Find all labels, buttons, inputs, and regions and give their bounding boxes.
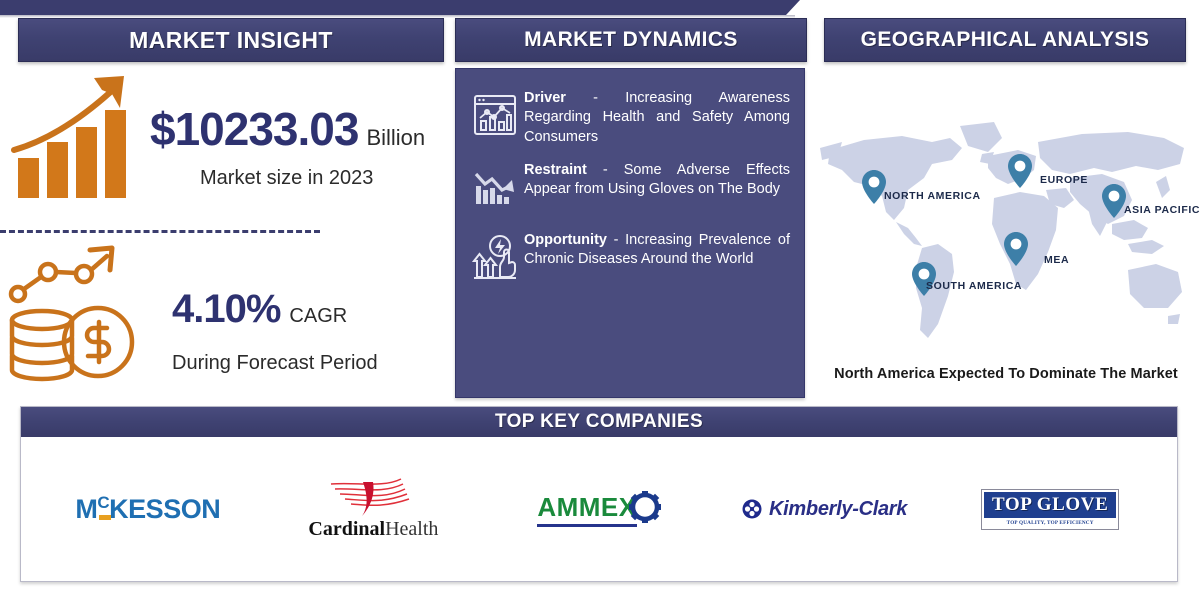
top-glove-wordmark: TOP GLOVE [992, 494, 1108, 515]
mckesson-sup: C [97, 493, 109, 512]
mckesson-prefix: M [75, 494, 97, 524]
ammex-wordmark: AMMEX [537, 492, 636, 527]
map-label-europe: EUROPE [1040, 174, 1088, 186]
kimberly-clark-lockup: Kimberly-Clark [742, 498, 907, 521]
dynamics-opportunity-sep: - [607, 232, 625, 248]
top-ribbon [0, 0, 800, 15]
company-logo-ammex[interactable]: AMMEX [486, 437, 712, 581]
dynamics-driver-title: Driver [524, 90, 566, 106]
mckesson-orange-underline [99, 515, 111, 520]
mckesson-rest: KESSON [109, 494, 220, 524]
market-insight-header: MARKET INSIGHT [18, 18, 444, 62]
geographical-caption: North America Expected To Dominate The M… [812, 366, 1200, 382]
ammex-gear-icon [627, 490, 661, 528]
top-glove-lockup: TOP GLOVE TOP QUALITY, TOP EFFICIENCY [981, 489, 1119, 530]
ammex-lockup: AMMEX [537, 490, 660, 528]
map-pin-europe[interactable] [1008, 154, 1032, 188]
cagr-caption: During Forecast Period [172, 352, 378, 375]
top-key-companies-header-label: TOP KEY COMPANIES [495, 411, 703, 433]
market-insight-panel: $10233.03 Billion Market size in 2023 4.… [0, 62, 450, 402]
dynamics-restraint-sep: - [587, 162, 624, 178]
cagr-coins-growth-icon [6, 242, 156, 382]
cardinal-health-lockup: CardinalHealth [308, 478, 438, 541]
top-key-companies-panel: TOP KEY COMPANIES MCKESSON [20, 406, 1178, 582]
market-size-value-row: $10233.03 Billion [150, 102, 425, 156]
geographical-analysis-header-label: GEOGRAPHICAL ANALYSIS [861, 28, 1150, 52]
cagr-value: 4.10% [172, 287, 280, 332]
dynamics-driver-sep: - [566, 90, 625, 106]
company-logos-row: MCKESSON CardinalHealth [21, 437, 1177, 581]
market-dynamics-header-label: MARKET DYNAMICS [524, 28, 738, 52]
map-pin-asia-pacific[interactable] [1102, 184, 1126, 218]
market-size-value: $10233.03 [150, 102, 358, 156]
company-logo-cardinal-health[interactable]: CardinalHealth [261, 437, 487, 581]
kimberly-clark-wordmark: Kimberly-Clark [769, 498, 907, 521]
market-size-unit: Billion [366, 125, 425, 151]
declining-bar-chart-icon [466, 157, 524, 217]
dynamics-driver-text: Driver - Increasing Awareness Regarding … [524, 85, 790, 147]
dynamics-restraint-title: Restraint [524, 162, 587, 178]
cardinal-health-wordmark: CardinalHealth [308, 518, 438, 541]
dynamics-item-driver: Driver - Increasing Awareness Regarding … [456, 79, 804, 151]
company-logo-kimberly-clark[interactable]: Kimberly-Clark [712, 437, 938, 581]
cagr-value-row: 4.10% CAGR [172, 287, 347, 332]
cardinal-bold: Cardinal [308, 518, 385, 540]
top-glove-tagline: TOP QUALITY, TOP EFFICIENCY [984, 518, 1116, 527]
cagr-label: CAGR [289, 305, 347, 328]
top-glove-bar: TOP GLOVE [984, 492, 1116, 518]
map-label-north-america: NORTH AMERICA [884, 190, 981, 202]
kimberly-clark-flower-icon [742, 499, 762, 519]
cardinal-light: Health [385, 518, 438, 540]
company-logo-mckesson[interactable]: MCKESSON [35, 437, 261, 581]
insight-divider [0, 230, 320, 233]
market-dynamics-header: MARKET DYNAMICS [455, 18, 807, 62]
market-dynamics-panel: Driver - Increasing Awareness Regarding … [455, 68, 805, 398]
analytics-dashboard-icon [466, 85, 524, 145]
map-label-south-america: SOUTH AMERICA [926, 280, 1022, 292]
growth-bar-chart-icon [8, 72, 158, 202]
geographical-analysis-panel: NORTH AMERICAEUROPEASIA PACIFICMEASOUTH … [812, 66, 1200, 398]
dynamics-restraint-text: Restraint - Some Adverse Effects Appear … [524, 157, 790, 200]
dynamics-opportunity-title: Opportunity [524, 232, 607, 248]
company-logo-top-glove[interactable]: TOP GLOVE TOP QUALITY, TOP EFFICIENCY [937, 437, 1163, 581]
map-pin-mea[interactable] [1004, 232, 1028, 266]
dynamics-item-opportunity: Opportunity - Increasing Prevalence of C… [456, 221, 804, 291]
market-insight-header-label: MARKET INSIGHT [129, 27, 333, 54]
hand-tap-growth-icon [466, 227, 524, 287]
market-size-caption: Market size in 2023 [200, 167, 373, 190]
map-label-asia-pacific: ASIA PACIFIC [1124, 204, 1200, 216]
map-pin-north-america[interactable] [862, 170, 886, 204]
geographical-analysis-header: GEOGRAPHICAL ANALYSIS [824, 18, 1186, 62]
dynamics-opportunity-text: Opportunity - Increasing Prevalence of C… [524, 227, 790, 270]
cardinal-bird-icon [327, 478, 419, 518]
map-label-mea: MEA [1044, 254, 1069, 266]
top-key-companies-header: TOP KEY COMPANIES [21, 407, 1177, 437]
world-map-landmasses [820, 122, 1184, 338]
dynamics-item-restraint: Restraint - Some Adverse Effects Appear … [456, 151, 804, 221]
mckesson-wordmark: MCKESSON [75, 493, 220, 525]
